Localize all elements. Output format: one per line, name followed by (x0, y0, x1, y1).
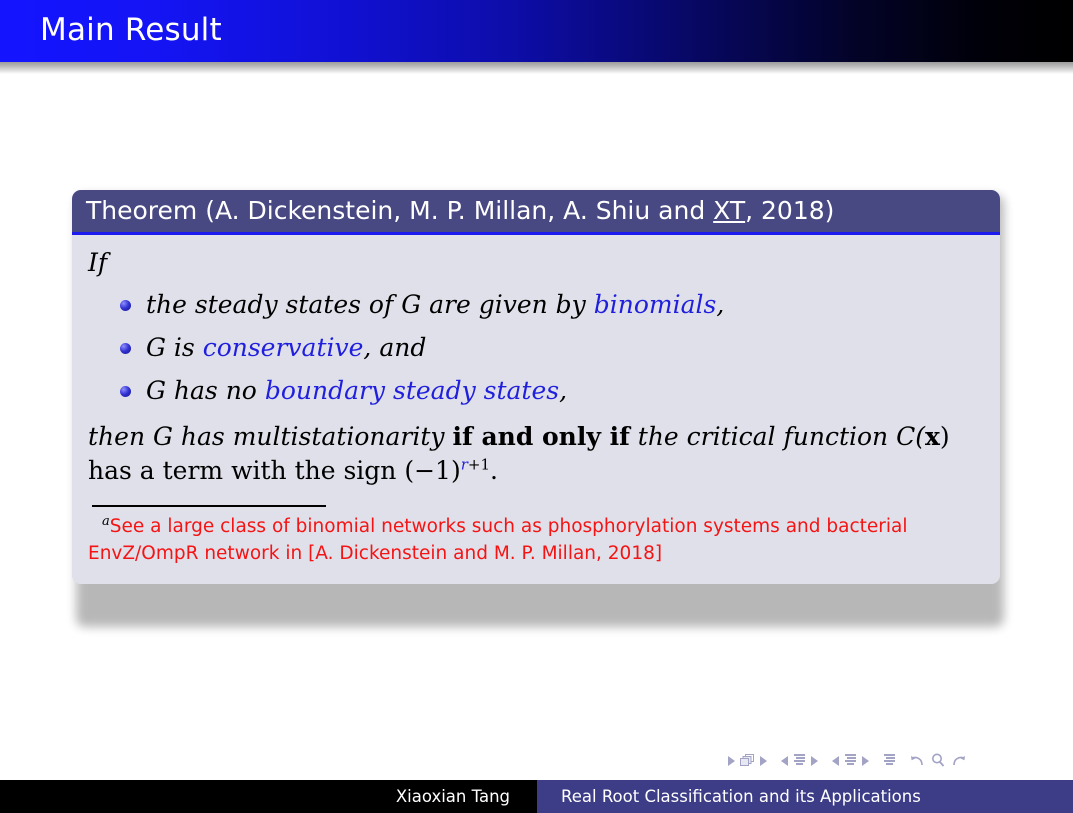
theorem-body: If the steady states of G are given by b… (72, 235, 1000, 584)
back-icon[interactable] (910, 752, 926, 771)
next-section-arrow-icon[interactable] (862, 756, 869, 766)
bullet-dot-icon (120, 343, 131, 354)
theorem-header: Theorem (A. Dickenstein, M. P. Millan, A… (72, 190, 1000, 235)
slide-title-bar: Main Result (0, 0, 1073, 62)
theorem-card: Theorem (A. Dickenstein, M. P. Millan, A… (72, 190, 1000, 584)
exponent-rest: +1 (468, 455, 490, 473)
forward-icon[interactable] (950, 752, 966, 771)
prev-slide-arrow-icon[interactable] (728, 756, 735, 766)
search-icon[interactable] (931, 752, 945, 771)
footer-author: Xiaoxian Tang (0, 780, 537, 813)
theorem-intro: If (88, 247, 982, 279)
presentation-icon[interactable] (883, 752, 896, 771)
formula-vector-x: x (925, 422, 940, 451)
slide-footer: Xiaoxian Tang Real Root Classification a… (0, 780, 1073, 813)
search-icon-svg (931, 753, 945, 767)
bullet-dot-icon (120, 386, 131, 397)
frames-icon[interactable] (740, 752, 755, 771)
subsection-nav-group[interactable] (781, 752, 818, 771)
bullet-text-pre: G is (146, 333, 203, 362)
theorem-block: Theorem (A. Dickenstein, M. P. Millan, A… (72, 190, 1000, 584)
next-subsection-arrow-icon[interactable] (811, 756, 818, 766)
prev-subsection-arrow-icon[interactable] (781, 756, 788, 766)
bullet-text-post: , (559, 376, 567, 405)
section-nav-group[interactable] (832, 752, 869, 771)
subsection-icon[interactable] (793, 752, 806, 771)
bullet-keyword: conservative (203, 333, 364, 362)
bullet-keyword: boundary steady states (265, 376, 559, 405)
theorem-header-suffix: , 2018) (745, 196, 834, 225)
theorem-header-underlined-author: XT (713, 196, 745, 225)
theorem-footnote: aSee a large class of binomial networks … (88, 513, 982, 568)
presentation-icon-svg (883, 754, 896, 767)
section-icon[interactable] (844, 752, 857, 771)
section-icon-svg (844, 754, 857, 767)
theorem-header-prefix: Theorem (A. Dickenstein, M. P. Millan, A… (86, 196, 713, 225)
beamer-navigation-symbols[interactable] (728, 748, 1058, 774)
conclusion-part1: then G has multistationarity (88, 422, 452, 451)
theorem-header-text: Theorem (A. Dickenstein, M. P. Millan, A… (86, 196, 834, 225)
list-item: G has no boundary steady states, (116, 369, 982, 412)
footnote-separator (92, 505, 326, 507)
document-nav-group[interactable] (910, 752, 966, 771)
forward-icon-svg (950, 753, 966, 767)
bullet-text-post: , (716, 290, 724, 319)
slide-nav-group[interactable] (728, 752, 767, 771)
bullet-text-pre: the steady states of G are given by (146, 290, 594, 319)
bullet-keyword: binomials (594, 290, 717, 319)
footnote-text: See a large class of binomial networks s… (88, 516, 908, 564)
footer-talk-title: Real Root Classification and its Applica… (537, 780, 1073, 813)
title-bar-shadow (0, 62, 1073, 74)
bullet-text-post: , and (363, 333, 426, 362)
frames-icon-svg (740, 754, 755, 767)
theorem-condition-list: the steady states of G are given by bino… (86, 283, 982, 412)
prev-section-arrow-icon[interactable] (832, 756, 839, 766)
formula-exponent: r+1 (461, 455, 490, 473)
formula-lead: C( (896, 422, 925, 451)
subsection-icon-svg (793, 754, 806, 767)
conclusion-emphasis: if and only if (452, 422, 629, 451)
list-item: G is conservative, and (116, 326, 982, 369)
exponent-r: r (461, 455, 468, 473)
back-icon-svg (910, 753, 926, 767)
list-item: the steady states of G are given by bino… (116, 283, 982, 326)
next-slide-arrow-icon[interactable] (760, 756, 767, 766)
footnote-marker: a (102, 514, 110, 529)
conclusion-part2: the critical function (630, 422, 896, 451)
bullet-text-pre: G has no (146, 376, 265, 405)
bullet-dot-icon (120, 300, 131, 311)
formula-end: . (490, 456, 498, 485)
theorem-conclusion: then G has multistationarity if and only… (88, 420, 982, 487)
presentation-nav-group[interactable] (883, 752, 896, 771)
page-title: Main Result (40, 12, 222, 48)
